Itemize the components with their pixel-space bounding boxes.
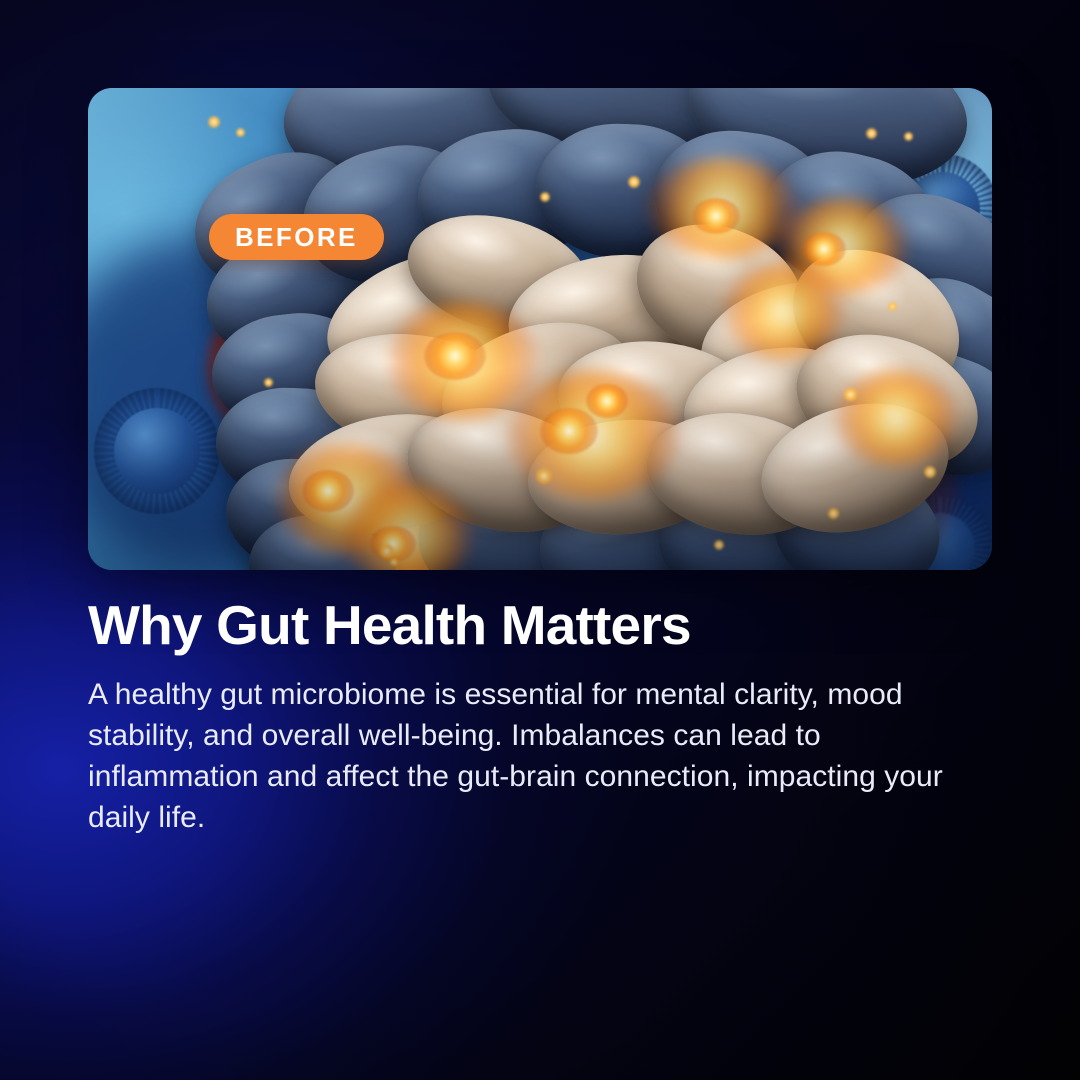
spark-particle (390, 558, 398, 566)
spark-particle (540, 192, 550, 202)
inflammation-core (692, 198, 740, 234)
spark-particle (924, 466, 936, 478)
slide-canvas: BEFORE Why Gut Health Matters A healthy … (0, 0, 1080, 1080)
spark-particle (844, 388, 857, 401)
spark-particle (264, 378, 273, 387)
media-card[interactable]: BEFORE (88, 88, 992, 570)
inflammation-glow (724, 264, 842, 360)
spark-particle (208, 116, 220, 128)
spark-particle (866, 128, 877, 139)
body-paragraph: A healthy gut microbiome is essential fo… (88, 674, 993, 838)
spark-particle (380, 544, 394, 558)
inflammation-core (802, 232, 846, 266)
spark-particle (536, 468, 552, 484)
intestine-illustration (88, 88, 992, 570)
inflammation-core (302, 470, 354, 512)
page-title: Why Gut Health Matters (88, 596, 998, 654)
spark-particle (236, 128, 245, 137)
spark-particle (714, 540, 724, 550)
inflammation-glow (836, 370, 956, 466)
before-badge[interactable]: BEFORE (209, 214, 384, 260)
inflammation-core (370, 526, 416, 562)
spark-particle (628, 176, 640, 188)
spark-particle (828, 508, 839, 519)
spark-particle (904, 132, 913, 141)
inflammation-core (540, 408, 598, 454)
inflammation-core (424, 332, 486, 380)
inflammation-core (586, 384, 628, 418)
spark-particle (888, 302, 897, 311)
text-content: Why Gut Health Matters A healthy gut mic… (88, 596, 998, 838)
